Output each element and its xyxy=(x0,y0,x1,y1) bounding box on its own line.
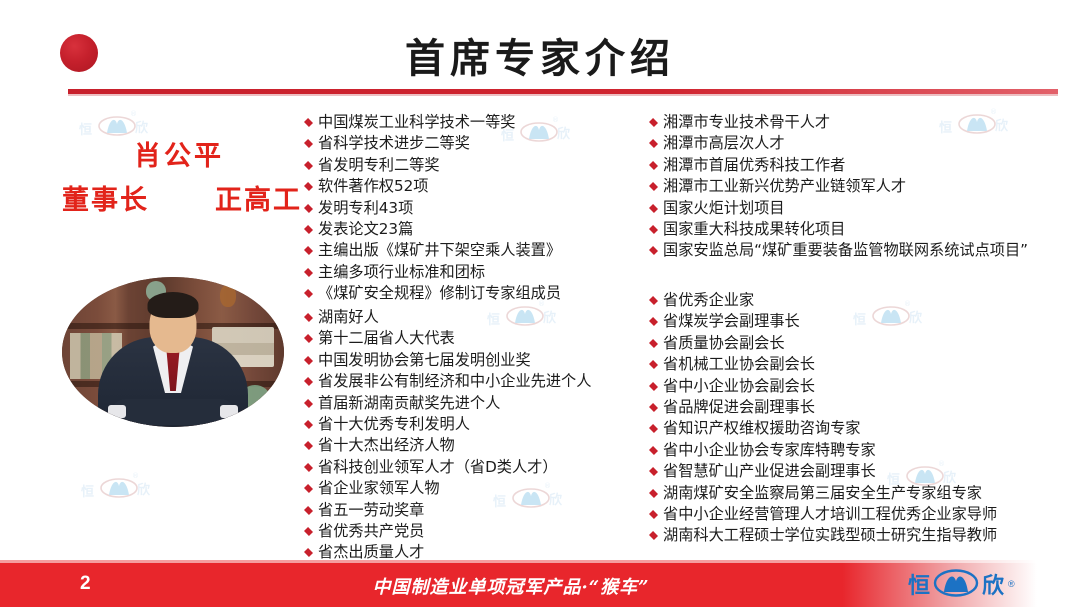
header-divider-accent xyxy=(68,94,1058,96)
bullet-diamond-icon xyxy=(304,225,313,234)
svg-text:恒: 恒 xyxy=(81,484,94,500)
bullet-item-label: 主编多项行业标准和团标 xyxy=(318,263,485,281)
bullet-diamond-icon xyxy=(649,182,658,191)
bullet-item: 省十大杰出经济人物 xyxy=(305,435,645,456)
bullet-item-label: 省煤炭学会副理事长 xyxy=(663,312,800,330)
bullet-diamond-icon xyxy=(304,161,313,170)
bullet-item: 湘潭市专业技术骨干人才 xyxy=(650,112,1070,133)
bullet-item-label: 中国煤炭工业科学技术一等奖 xyxy=(318,113,515,131)
slide-root: 首席专家介绍 肖公平 董事长 正高工 中国煤炭工业科学技术一等奖省科学技术进步二… xyxy=(0,0,1080,607)
bullet-item: 省机械工业协会副会长 xyxy=(650,354,1075,375)
bullet-item: 湘潭市首届优秀科技工作者 xyxy=(650,155,1070,176)
bullet-item-label: 省企业家领军人物 xyxy=(318,479,440,497)
logo-char-right: 欣 xyxy=(982,568,1004,600)
bullet-item-label: 发表论文23篇 xyxy=(318,220,413,238)
achievements-column-top-left: 中国煤炭工业科学技术一等奖省科学技术进步二等奖省发明专利二等奖软件著作权52项发… xyxy=(305,112,635,305)
bullet-item: 省中小企业协会专家库特聘专家 xyxy=(650,440,1075,461)
bullet-diamond-icon xyxy=(649,161,658,170)
bullet-diamond-icon xyxy=(304,356,313,365)
bullet-list-top-left: 中国煤炭工业科学技术一等奖省科学技术进步二等奖省发明专利二等奖软件著作权52项发… xyxy=(305,112,635,305)
achievements-column-bottom-left: 湖南好人第十二届省人大代表中国发明协会第七届发明创业奖省发展非公有制经济和中小企… xyxy=(305,307,645,564)
bullet-item: 湖南科大工程硕士学位实践型硕士研究生指导教师 xyxy=(650,525,1075,546)
bullet-item-label: 省杰出质量人才 xyxy=(318,543,424,561)
footer-bar: 2 中国制造业单项冠军产品·“猴车” 恒 欣 ® xyxy=(0,560,1080,607)
bullet-diamond-icon xyxy=(649,510,658,519)
bullet-diamond-icon xyxy=(649,403,658,412)
bullet-list-bottom-right: 省优秀企业家省煤炭学会副理事长省质量协会副会长省机械工业协会副会长省中小企业协会… xyxy=(650,290,1075,547)
bullet-item: 湖南好人 xyxy=(305,307,645,328)
bullet-item-label: 省中小企业协会副会长 xyxy=(663,377,815,395)
bullet-item-label: 湖南好人 xyxy=(318,308,379,326)
achievements-column-top-right: 湘潭市专业技术骨干人才湘潭市高层次人才湘潭市首届优秀科技工作者湘潭市工业新兴优势… xyxy=(650,112,1070,262)
bullet-item-label: 省优秀共产党员 xyxy=(318,522,424,540)
svg-text:恒: 恒 xyxy=(79,122,92,138)
bullet-item: 省五一劳动奖章 xyxy=(305,500,645,521)
bullet-item-label: 省科学技术进步二等奖 xyxy=(318,134,470,152)
bullet-diamond-icon xyxy=(304,268,313,277)
bullet-item: 省知识产权维权援助咨询专家 xyxy=(650,418,1075,439)
bullet-diamond-icon xyxy=(649,382,658,391)
bullet-item-label: 湘潭市工业新兴优势产业链领军人才 xyxy=(663,177,906,195)
bullet-item: 第十二届省人大代表 xyxy=(305,328,645,349)
bullet-item-label: 省十大杰出经济人物 xyxy=(318,436,455,454)
bullet-diamond-icon xyxy=(304,506,313,515)
bullet-item-label: 湘潭市首届优秀科技工作者 xyxy=(663,156,845,174)
portrait-folded-arms xyxy=(112,399,234,425)
bullet-item-label: 省中小企业协会专家库特聘专家 xyxy=(663,441,876,459)
bullet-diamond-icon xyxy=(304,246,313,255)
bullet-item: 中国煤炭工业科学技术一等奖 xyxy=(305,112,635,133)
bullet-diamond-icon xyxy=(649,339,658,348)
bullet-diamond-icon xyxy=(304,289,313,298)
bullet-diamond-icon xyxy=(304,182,313,191)
bullet-diamond-icon xyxy=(649,467,658,476)
bullet-item: 国家重大科技成果转化项目 xyxy=(650,219,1070,240)
bullet-item-label: 湘潭市高层次人才 xyxy=(663,134,785,152)
bullet-diamond-icon xyxy=(304,334,313,343)
bullet-item: 省发展非公有制经济和中小企业先进个人 xyxy=(305,371,645,392)
person-role-secondary: 正高工 xyxy=(215,178,302,217)
bullet-item-label: 省知识产权维权援助咨询专家 xyxy=(663,419,860,437)
bullet-item: 湘潭市高层次人才 xyxy=(650,133,1070,154)
bullet-item-label: 省品牌促进会副理事长 xyxy=(663,398,815,416)
bullet-item-label: 国家火炬计划项目 xyxy=(663,199,785,217)
bullet-item-label: 省中小企业经营管理人才培训工程优秀企业家导师 xyxy=(663,505,997,523)
bullet-item: 发表论文23篇 xyxy=(305,219,635,240)
logo-char-left: 恒 xyxy=(908,568,930,600)
bullet-diamond-icon xyxy=(304,139,313,148)
bullet-item: 国家安监总局“煤矿重要装备监管物联网系统试点项目” xyxy=(650,240,1070,261)
bullet-item: 省发明专利二等奖 xyxy=(305,155,635,176)
bullet-item: 湖南煤矿安全监察局第三届安全生产专家组专家 xyxy=(650,483,1075,504)
bullet-item-label: 省五一劳动奖章 xyxy=(318,501,424,519)
bullet-diamond-icon xyxy=(304,377,313,386)
bullet-item-label: 省智慧矿山产业促进会副理事长 xyxy=(663,462,876,480)
bullet-item-label: 省发明专利二等奖 xyxy=(318,156,440,174)
bullet-item: 省科技创业领军人才（省D类人才） xyxy=(305,457,645,478)
bullet-item-label: 首届新湖南贡献奖先进个人 xyxy=(318,394,500,412)
bullet-diamond-icon xyxy=(649,246,658,255)
bullet-item: 省智慧矿山产业促进会副理事长 xyxy=(650,461,1075,482)
company-logo: 恒 欣 ® xyxy=(908,566,1054,602)
bullet-item: 主编多项行业标准和团标 xyxy=(305,262,635,283)
bullet-item-label: 主编出版《煤矿井下架空乘人装置》 xyxy=(318,241,561,259)
bullet-item-label: 省发展非公有制经济和中小企业先进个人 xyxy=(318,372,591,390)
bullet-item: 省品牌促进会副理事长 xyxy=(650,397,1075,418)
bullet-diamond-icon xyxy=(304,420,313,429)
bullet-item-label: 国家安监总局“煤矿重要装备监管物联网系统试点项目” xyxy=(663,241,1028,259)
bullet-diamond-icon xyxy=(649,118,658,127)
bullet-item: 主编出版《煤矿井下架空乘人装置》 xyxy=(305,240,635,261)
bullet-item: 省十大优秀专利发明人 xyxy=(305,414,645,435)
bullet-item: 省中小企业经营管理人才培训工程优秀企业家导师 xyxy=(650,504,1075,525)
logo-mark-icon xyxy=(933,566,979,603)
bullet-item-label: 《煤矿安全规程》修制订专家组成员 xyxy=(318,284,561,302)
bullet-item-label: 发明专利43项 xyxy=(318,199,413,217)
bullet-item-label: 省科技创业领军人才（省D类人才） xyxy=(318,458,558,476)
bullet-diamond-icon xyxy=(649,139,658,148)
bullet-item: 《煤矿安全规程》修制订专家组成员 xyxy=(305,283,635,304)
decor-vase-amber xyxy=(220,285,236,307)
watermark-logo: 恒 欣 ® xyxy=(80,468,158,508)
svg-text:®: ® xyxy=(130,110,137,118)
bullet-item: 中国发明协会第七届发明创业奖 xyxy=(305,350,645,371)
bullet-diamond-icon xyxy=(304,463,313,472)
bullet-item: 省优秀企业家 xyxy=(650,290,1075,311)
bullet-item-label: 省优秀企业家 xyxy=(663,291,754,309)
bullet-diamond-icon xyxy=(304,548,313,557)
bullet-list-top-right: 湘潭市专业技术骨干人才湘潭市高层次人才湘潭市首届优秀科技工作者湘潭市工业新兴优势… xyxy=(650,112,1070,262)
bullet-diamond-icon xyxy=(304,527,313,536)
bullet-item: 首届新湖南贡献奖先进个人 xyxy=(305,393,645,414)
person-portrait-photo xyxy=(62,277,284,427)
bullet-item-label: 软件著作权52项 xyxy=(318,177,428,195)
footer-top-highlight xyxy=(0,560,1080,563)
bullet-item-label: 湖南科大工程硕士学位实践型硕士研究生指导教师 xyxy=(663,526,997,544)
bullet-diamond-icon xyxy=(649,446,658,455)
bullet-item: 国家火炬计划项目 xyxy=(650,198,1070,219)
bullet-item-label: 省机械工业协会副会长 xyxy=(663,355,815,373)
svg-text:欣: 欣 xyxy=(137,482,151,498)
bullet-list-bottom-left: 湖南好人第十二届省人大代表中国发明协会第七届发明创业奖省发展非公有制经济和中小企… xyxy=(305,307,645,564)
person-name: 肖公平 xyxy=(134,134,224,173)
bullet-diamond-icon xyxy=(649,424,658,433)
svg-text:®: ® xyxy=(132,472,139,480)
portrait-cuff-left xyxy=(108,405,126,418)
bullet-diamond-icon xyxy=(304,313,313,322)
bullet-item-label: 中国发明协会第七届发明创业奖 xyxy=(318,351,531,369)
bullet-diamond-icon xyxy=(649,317,658,326)
bullet-item: 湘潭市工业新兴优势产业链领军人才 xyxy=(650,176,1070,197)
bullet-item: 省质量协会副会长 xyxy=(650,333,1075,354)
bullet-item-label: 湖南煤矿安全监察局第三届安全生产专家组专家 xyxy=(663,484,982,502)
person-role-primary: 董事长 xyxy=(62,178,149,217)
page-title: 首席专家介绍 xyxy=(0,26,1080,84)
bullet-item: 省煤炭学会副理事长 xyxy=(650,311,1075,332)
portrait-hair xyxy=(148,292,199,318)
bullet-diamond-icon xyxy=(649,531,658,540)
portrait-cuff-right xyxy=(220,405,238,418)
person-roles: 董事长 正高工 xyxy=(62,178,302,217)
bullet-diamond-icon xyxy=(649,204,658,213)
bullet-item-label: 第十二届省人大代表 xyxy=(318,329,455,347)
bullet-item-label: 国家重大科技成果转化项目 xyxy=(663,220,845,238)
achievements-column-bottom-right: 省优秀企业家省煤炭学会副理事长省质量协会副会长省机械工业协会副会长省中小企业协会… xyxy=(650,290,1075,547)
bullet-item-label: 省质量协会副会长 xyxy=(663,334,785,352)
bullet-diamond-icon xyxy=(649,360,658,369)
bullet-item: 省中小企业协会副会长 xyxy=(650,376,1075,397)
bullet-item: 省优秀共产党员 xyxy=(305,521,645,542)
bullet-diamond-icon xyxy=(304,441,313,450)
bullet-diamond-icon xyxy=(304,399,313,408)
bullet-item: 省科学技术进步二等奖 xyxy=(305,133,635,154)
bullet-item-label: 湘潭市专业技术骨干人才 xyxy=(663,113,830,131)
bullet-item: 省企业家领军人物 xyxy=(305,478,645,499)
bullet-diamond-icon xyxy=(649,489,658,498)
registered-trademark-icon: ® xyxy=(1008,579,1015,589)
bullet-item: 软件著作权52项 xyxy=(305,176,635,197)
bullet-diamond-icon xyxy=(649,225,658,234)
bullet-item: 发明专利43项 xyxy=(305,198,635,219)
bullet-diamond-icon xyxy=(649,296,658,305)
bullet-diamond-icon xyxy=(304,484,313,493)
bullet-diamond-icon xyxy=(304,204,313,213)
bullet-item-label: 省十大优秀专利发明人 xyxy=(318,415,470,433)
bullet-diamond-icon xyxy=(304,118,313,127)
